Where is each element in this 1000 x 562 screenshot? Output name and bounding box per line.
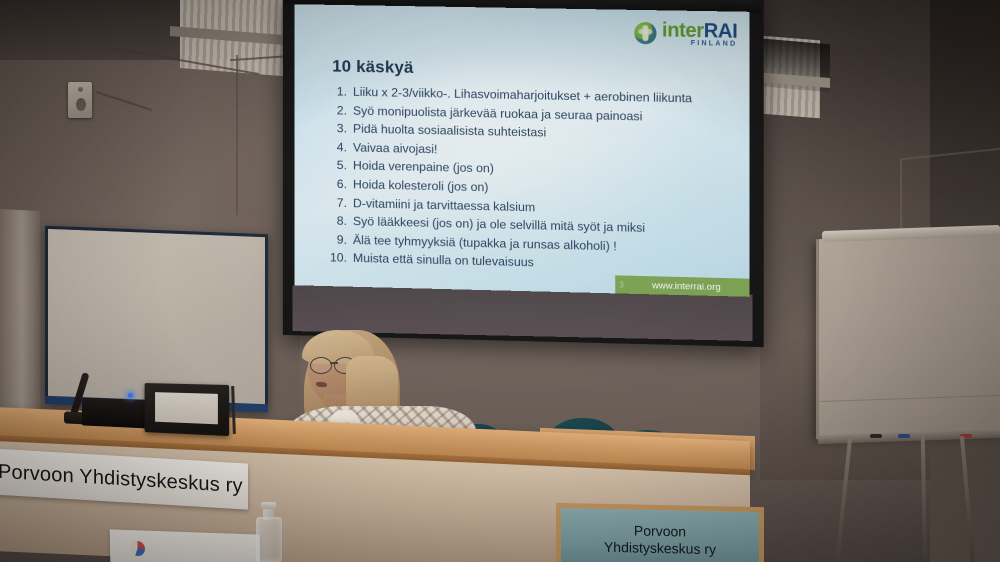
glasses-bridge: [330, 362, 338, 364]
marker-icon: [898, 434, 910, 438]
list-item-number: 1.: [328, 82, 347, 101]
list-item-number: 4.: [328, 138, 347, 157]
brochure-logo-icon: [130, 541, 145, 557]
panel-line-2: Yhdistyskeskus ry: [604, 539, 716, 559]
slide-footer-url: www.interrai.org: [631, 279, 749, 293]
interrai-logo: interRAI FINLAND: [635, 20, 738, 48]
lecture-hall-photo: interRAI FINLAND 10 käskyä 1.Liiku x 2-3…: [0, 0, 1000, 562]
cable: [236, 55, 238, 215]
logo-word-inter: inter: [662, 19, 704, 42]
podium-front-panel: Porvoon Yhdistyskeskus ry: [556, 503, 764, 562]
list-item-number: 2.: [328, 101, 347, 120]
projected-slide: interRAI FINLAND 10 käskyä 1.Liiku x 2-3…: [295, 4, 750, 297]
list-item-number: 5.: [328, 156, 347, 175]
list-item-number: 6.: [328, 175, 347, 194]
logo-wordmark: interRAI FINLAND: [662, 20, 737, 47]
interrai-globe-icon: [635, 22, 657, 44]
list-item-number: 10.: [328, 249, 347, 268]
water-bottle: [256, 517, 282, 562]
podium-banner-text: Porvoon Yhdistyskeskus ry: [0, 460, 243, 498]
name-plate-frame: [145, 383, 229, 436]
bottle-cap: [261, 502, 276, 509]
door-frame: [0, 209, 40, 411]
slide-bullet-list: 1.Liiku x 2-3/viikko-. Lihasvoimaharjoit…: [328, 82, 733, 277]
slide-title: 10 käskyä: [332, 57, 413, 78]
list-item-number: 3.: [328, 119, 347, 138]
list-item-text: Muista että sinulla on tulevaisuus: [353, 249, 534, 272]
list-item-number: 9.: [328, 230, 347, 249]
power-led: [128, 393, 133, 398]
list-item-number: 7.: [328, 193, 347, 212]
slide-page-number: 3: [619, 280, 631, 289]
slide-footer: 3 www.interrai.org: [615, 275, 749, 296]
marker-icon: [870, 434, 882, 438]
list-item-text: Vaivaa aivojasi!: [353, 138, 437, 158]
flipchart-easel: [816, 233, 1000, 440]
panel-line-1: Porvoon: [634, 522, 686, 541]
list-item-number: 8.: [328, 212, 347, 231]
wall-speaker-icon: [68, 82, 92, 118]
